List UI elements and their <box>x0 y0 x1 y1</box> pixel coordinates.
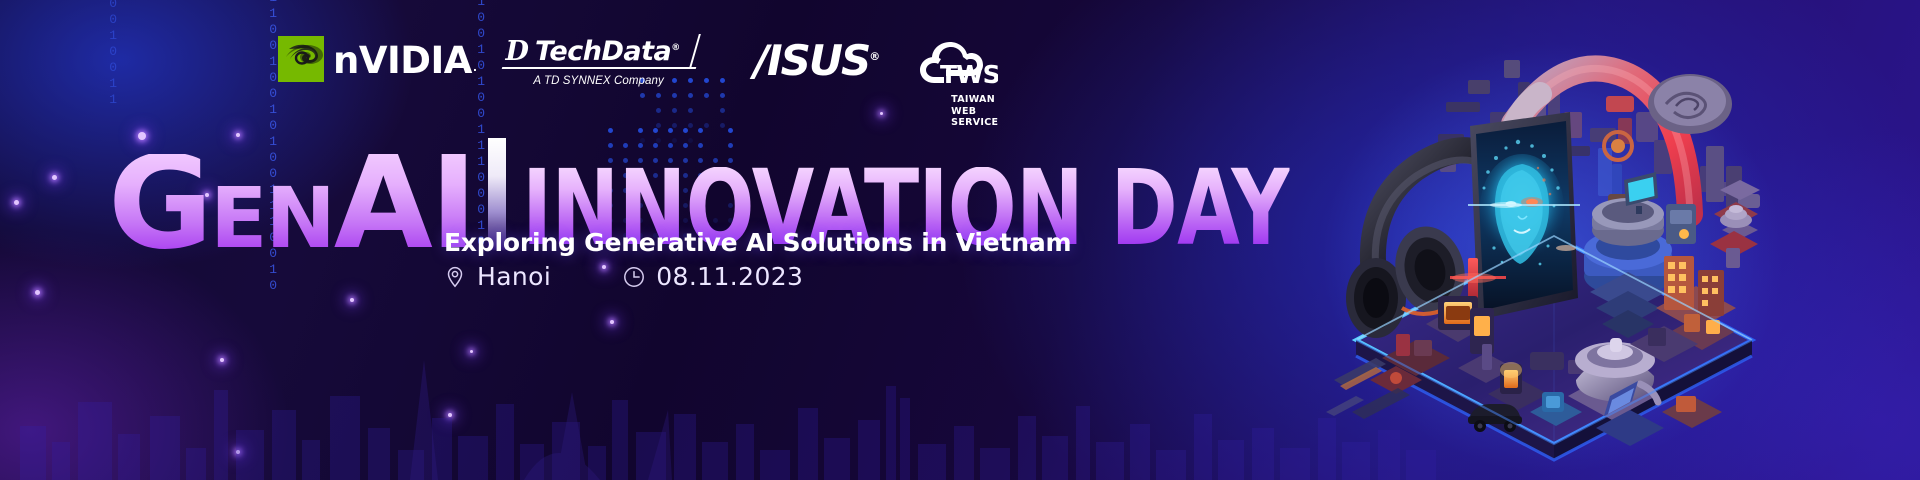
nvidia-eye-icon <box>278 36 324 82</box>
event-meta-row: Hanoi 08.11.2023 <box>444 262 803 291</box>
binary-column: 0010011 <box>106 0 120 108</box>
genai-g: G <box>108 154 210 254</box>
asus-wordmark: /ISUS® <box>754 40 879 82</box>
genai-innovation-day-banner: 0010011 1100100101001110010 100101001110… <box>0 0 1920 480</box>
ai-isometric-city-illustration <box>1318 8 1788 472</box>
spark <box>236 450 240 454</box>
nvidia-wordmark: nVIDIA. <box>333 42 476 79</box>
logo-nvidia[interactable]: nVIDIA. <box>278 36 476 82</box>
genai-en: EN <box>210 186 334 252</box>
city-skyline-decor <box>0 330 1450 480</box>
page-subtitle: Exploring Generative AI Solutions in Vie… <box>444 228 1071 257</box>
tech-data-underline <box>501 67 696 69</box>
meta-date: 08.11.2023 <box>623 262 803 291</box>
location-pin-icon <box>444 266 466 288</box>
cloud-icon: TWS <box>912 36 998 88</box>
spark <box>52 175 57 180</box>
spark <box>448 413 452 417</box>
genai-wordmark: G EN AI <box>108 154 474 254</box>
location-label: Hanoi <box>477 262 551 291</box>
logo-tws[interactable]: TWS TAIWAN WEB SERVICE <box>912 36 998 136</box>
spark <box>350 298 354 302</box>
spark <box>236 133 240 137</box>
spark <box>35 290 40 295</box>
logo-asus[interactable]: /ISUS® <box>754 40 879 82</box>
svg-text:TWS: TWS <box>940 60 998 88</box>
clock-icon <box>623 266 645 288</box>
spark <box>470 350 473 353</box>
spark <box>220 358 224 362</box>
tech-data-tagline: A TD SYNNEX Company <box>533 75 664 87</box>
logo-tech-data[interactable]: D TechData® A TD SYNNEX Company <box>502 36 696 87</box>
spark <box>610 320 614 324</box>
partner-logo-row: nVIDIA. D TechData® A TD SYNNEX Company … <box>278 36 998 136</box>
spark <box>14 200 19 205</box>
meta-location: Hanoi <box>444 262 551 291</box>
tech-data-slash <box>689 34 701 68</box>
tws-tagline: TAIWAN WEB SERVICE <box>951 94 998 129</box>
tech-data-wordmark: TechData® <box>535 38 680 65</box>
tech-data-monogram: D <box>506 38 529 65</box>
date-label: 08.11.2023 <box>656 262 803 291</box>
